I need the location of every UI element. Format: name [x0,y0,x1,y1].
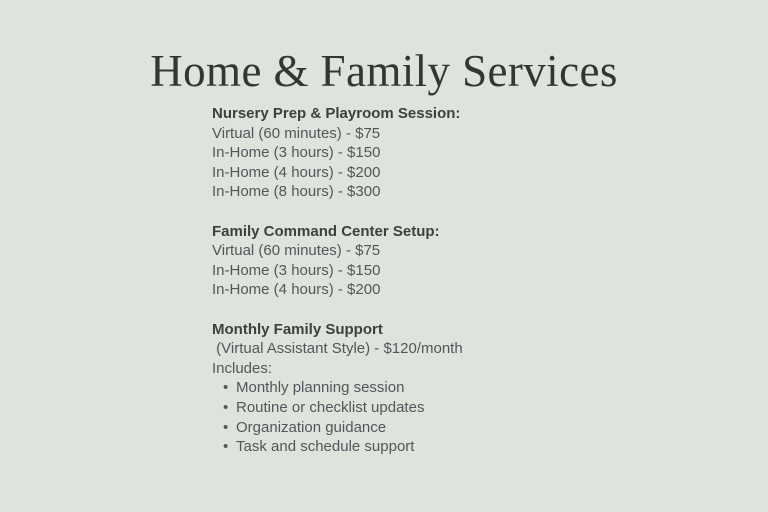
list-item: •Task and schedule support [212,437,632,457]
list-item-label: Organization guidance [236,419,386,436]
services-body: Nursery Prep & Playroom Session:Virtual … [212,104,632,457]
price-line: In-Home (4 hours) - $200 [212,280,632,300]
price-line: In-Home (3 hours) - $150 [212,261,632,281]
section-heading: Monthly Family Support [212,320,632,340]
service-section: Monthly Family Support (Virtual Assistan… [212,320,632,457]
list-item: •Organization guidance [212,418,632,438]
section-heading: Family Command Center Setup: [212,222,632,242]
title-container: Home & Family Services [0,48,768,95]
price-line: In-Home (4 hours) - $200 [212,163,632,183]
list-item-label: Monthly planning session [236,379,404,396]
service-section: Nursery Prep & Playroom Session:Virtual … [212,104,632,202]
section-heading: Nursery Prep & Playroom Session: [212,104,632,124]
list-item: •Monthly planning session [212,378,632,398]
services-slide: Home & Family Services Nursery Prep & Pl… [0,0,768,512]
bullet-point-icon: • [223,378,228,398]
bullet-point-icon: • [223,418,228,438]
price-line: Virtual (60 minutes) - $75 [212,124,632,144]
price-line: Virtual (60 minutes) - $75 [212,241,632,261]
service-section: Family Command Center Setup:Virtual (60 … [212,222,632,300]
list-item-label: Routine or checklist updates [236,399,424,416]
list-item: •Routine or checklist updates [212,398,632,418]
price-line: (Virtual Assistant Style) - $120/month [212,339,632,359]
price-line: In-Home (8 hours) - $300 [212,182,632,202]
price-line: In-Home (3 hours) - $150 [212,143,632,163]
list-item-label: Task and schedule support [236,438,414,455]
price-line: Includes: [212,359,632,379]
includes-list: •Monthly planning session•Routine or che… [212,378,632,456]
bullet-point-icon: • [223,398,228,418]
bullet-point-icon: • [223,437,228,457]
page-title: Home & Family Services [150,48,617,95]
